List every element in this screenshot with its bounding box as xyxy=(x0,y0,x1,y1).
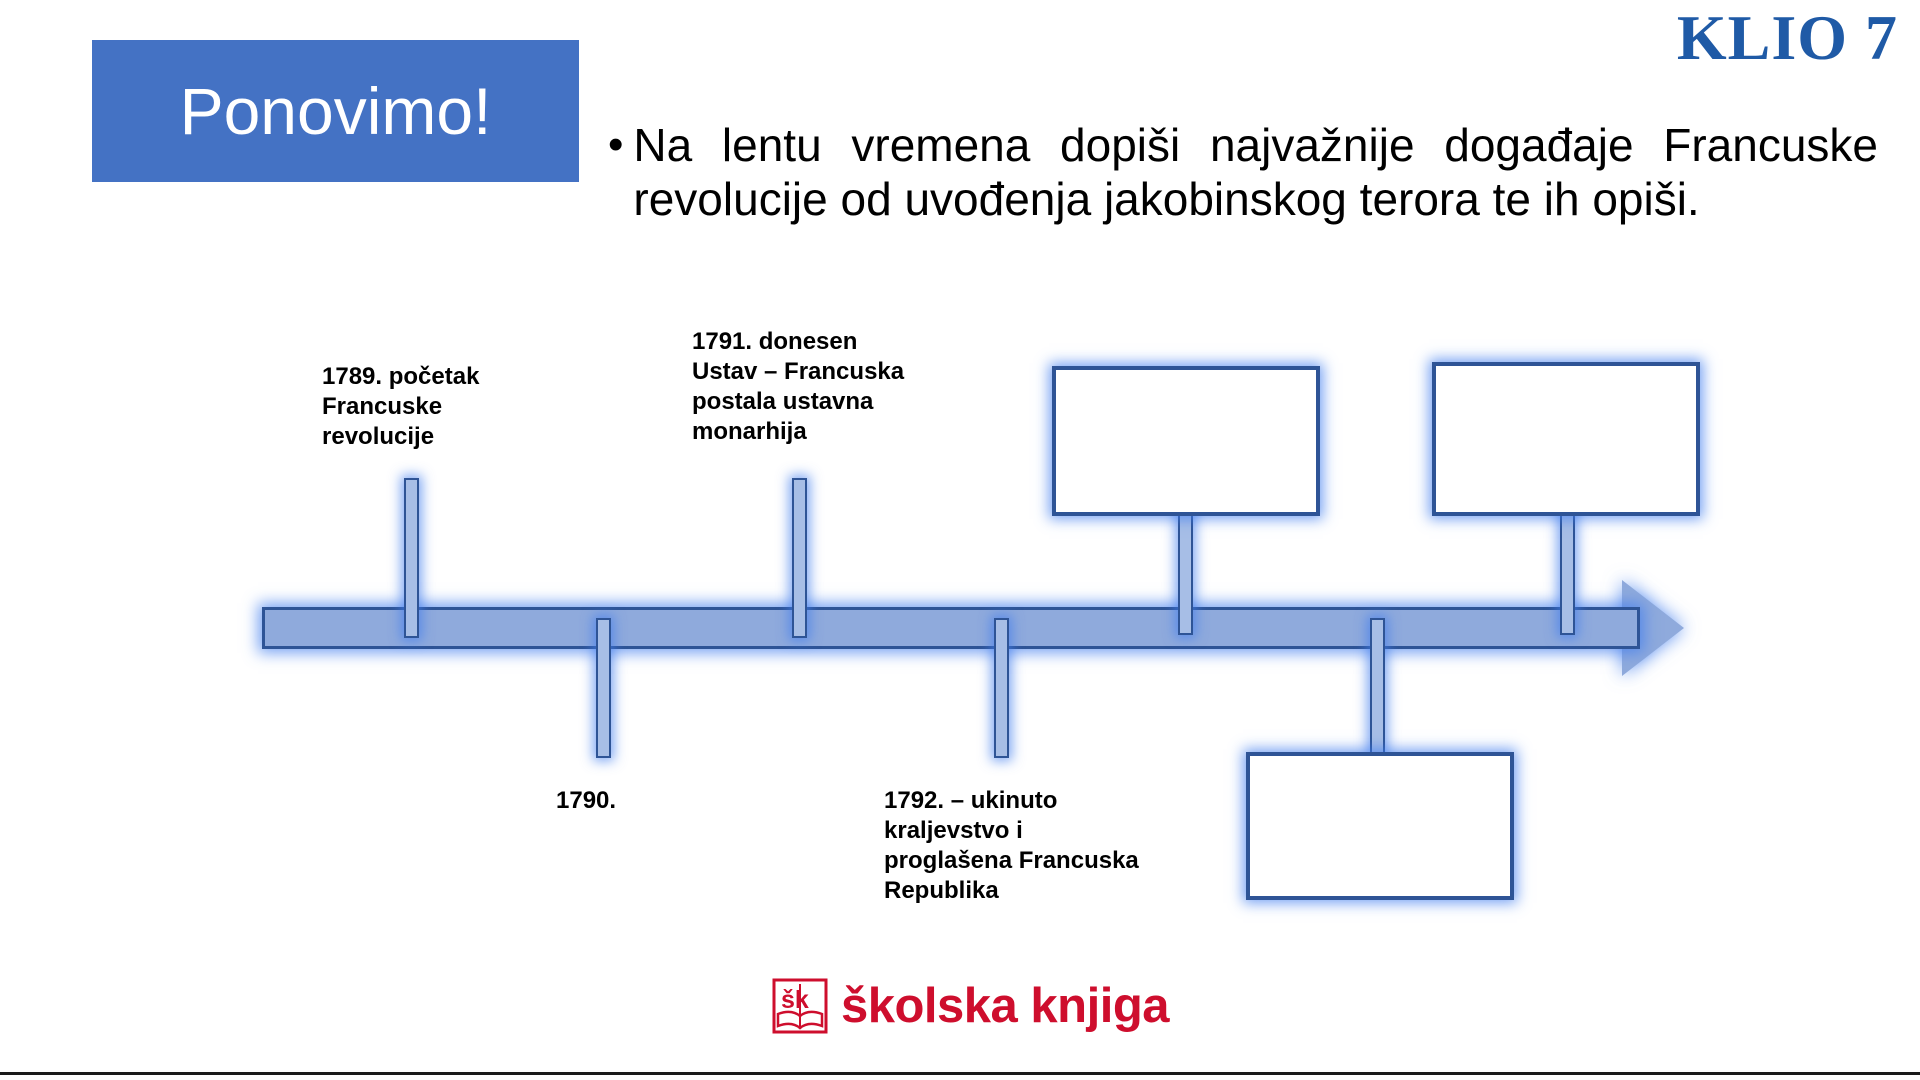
timeline-answer-box-2[interactable] xyxy=(1246,752,1514,900)
timeline-label-1790: 1790. xyxy=(556,786,716,816)
timeline-label-1789: 1789. početak Francuske revolucije xyxy=(322,362,552,452)
instruction-text: Na lentu vremena dopiši najvažnije događ… xyxy=(633,118,1878,226)
timeline-tick-1789[interactable] xyxy=(404,478,419,638)
timeline-tick-blank-3[interactable] xyxy=(1560,505,1575,635)
instruction-block: • Na lentu vremena dopiši najvažnije dog… xyxy=(608,118,1878,226)
timeline-tick-blank-1[interactable] xyxy=(1178,505,1193,635)
skolska-knjiga-book-icon: šk xyxy=(772,978,828,1034)
timeline-tick-1791[interactable] xyxy=(792,478,807,638)
bullet-dot-icon: • xyxy=(608,118,623,172)
title-box: Ponovimo! xyxy=(92,40,579,182)
slide-canvas: KLIO 7 Ponovimo! • Na lentu vremena dopi… xyxy=(0,0,1920,1080)
timeline-answer-box-1[interactable] xyxy=(1052,366,1320,516)
timeline-answer-box-3[interactable] xyxy=(1432,362,1700,516)
timeline-label-1791: 1791. donesen Ustav – Francuska postala … xyxy=(692,327,952,447)
svg-text:šk: šk xyxy=(781,986,809,1014)
page-title: Ponovimo! xyxy=(180,78,492,144)
sk-book-glyph: šk xyxy=(772,978,828,1034)
publisher-logo: šk školska knjiga xyxy=(772,978,1169,1034)
slide-bottom-rule xyxy=(0,1072,1920,1075)
publisher-name: školska knjiga xyxy=(841,982,1169,1031)
timeline-tick-1790[interactable] xyxy=(596,618,611,758)
timeline-label-1792: 1792. – ukinuto kraljevstvo i proglašena… xyxy=(884,786,1194,906)
timeline-axis-bar xyxy=(262,607,1640,649)
timeline-tick-1792[interactable] xyxy=(994,618,1009,758)
klio-brand-logo: KLIO 7 xyxy=(1677,6,1898,70)
timeline-tick-blank-2[interactable] xyxy=(1370,618,1385,756)
